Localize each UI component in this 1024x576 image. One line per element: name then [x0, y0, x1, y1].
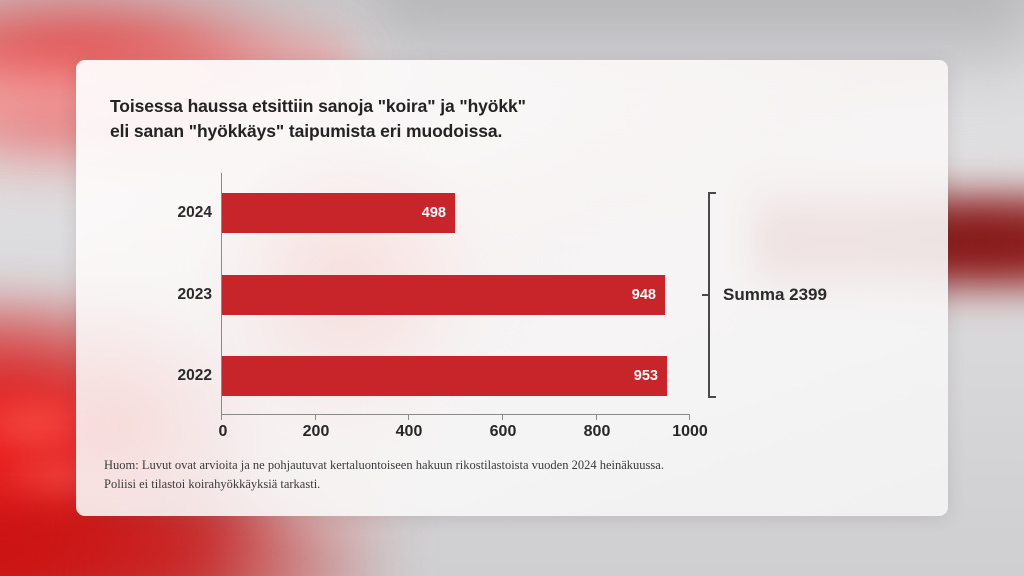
bar-value-2022: 953: [634, 368, 658, 384]
x-tick-label-600: 600: [490, 423, 517, 441]
bar-value-2024: 498: [422, 205, 446, 221]
x-tick-800: [596, 414, 597, 420]
bar-2022: 953: [222, 356, 667, 396]
total-bracket-arm-bottom: [708, 396, 716, 398]
chart-footnote: Huom: Luvut ovat arvioita ja ne pohjautu…: [104, 456, 664, 495]
y-axis-label-2023: 2023: [142, 286, 212, 304]
bar-2024: 498: [222, 193, 455, 233]
x-tick-1000: [689, 414, 690, 420]
x-tick-0: [221, 414, 222, 420]
x-tick-400: [408, 414, 409, 420]
bar-2023: 948: [222, 275, 665, 315]
x-tick-label-1000: 1000: [672, 423, 708, 441]
bar-value-2023: 948: [632, 287, 656, 303]
x-tick-label-0: 0: [219, 423, 228, 441]
y-axis-label-2024: 2024: [142, 204, 212, 222]
y-axis-line: [221, 173, 222, 414]
x-tick-200: [315, 414, 316, 420]
bar-chart: 2024 2023 2022 498 948 953 0 200 400 600…: [76, 60, 948, 516]
x-axis-line: [221, 414, 690, 415]
y-axis-label-2022: 2022: [142, 367, 212, 385]
total-bracket-arm-top: [708, 192, 716, 194]
x-tick-label-800: 800: [584, 423, 611, 441]
chart-card: Toisessa haussa etsittiin sanoja "koira"…: [76, 60, 948, 516]
total-bracket-tick: [702, 294, 709, 296]
x-tick-label-200: 200: [303, 423, 330, 441]
x-tick-600: [502, 414, 503, 420]
x-tick-label-400: 400: [396, 423, 423, 441]
total-annotation: Summa 2399: [723, 285, 827, 305]
